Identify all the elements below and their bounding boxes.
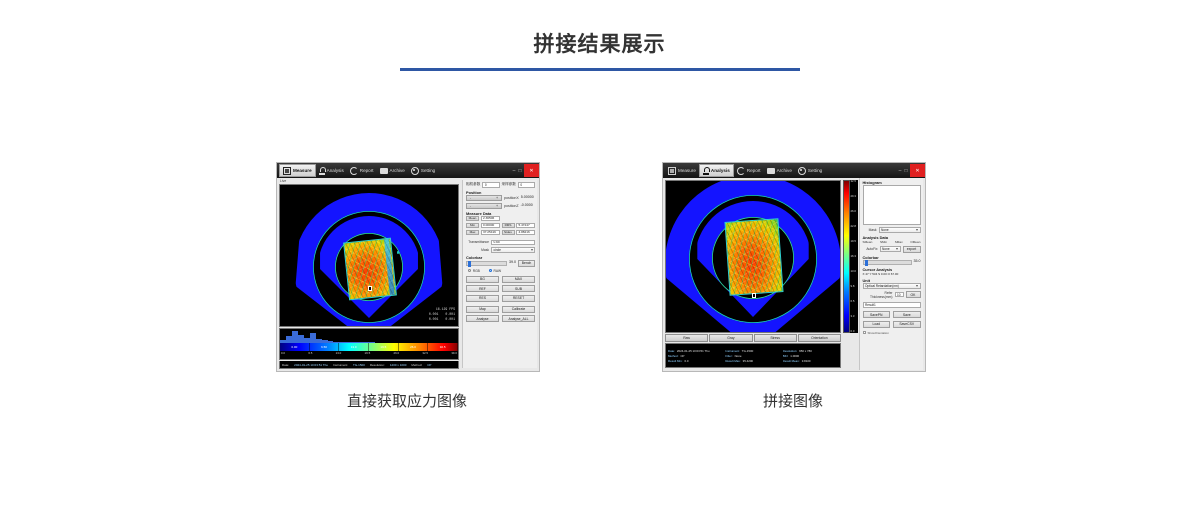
status-value: CP — [427, 363, 431, 367]
camera-param-input[interactable]: 0 — [482, 182, 499, 188]
info-key: Filter: — [725, 354, 732, 358]
axis-tick: 13.0 — [850, 270, 858, 273]
radio-raw-label: RAW — [494, 269, 502, 273]
position-x-minus[interactable]: - — [470, 196, 471, 200]
camera-icon — [668, 167, 676, 175]
show-orientation-label: ShowOrientation — [868, 331, 889, 335]
left-stress-canvas[interactable]: 16.129 FPS 0.001 0.001 0.001 0.001 — [279, 184, 459, 327]
axis-tick: 32.5 — [850, 180, 858, 183]
mode-radio-group: RGB RAW — [468, 269, 535, 273]
rms-value: 5.47247 — [516, 223, 535, 229]
top-fields-row: 相机参数 0 采样参数 0 — [466, 182, 535, 188]
gear-icon — [411, 167, 419, 175]
bg-button[interactable]: BG — [466, 276, 499, 283]
reset-button[interactable]: RESET — [502, 295, 535, 302]
right-colorbar-slider-row: 35.0 — [863, 260, 921, 265]
slider-handle[interactable] — [865, 260, 868, 266]
right-tab-measure-label: Measure — [678, 168, 696, 173]
camera-icon — [283, 167, 291, 175]
left-tab-analysis[interactable]: Analysis — [316, 164, 347, 177]
left-tab-setting[interactable]: Setting — [408, 164, 438, 177]
colorbar-value: 39.0 — [509, 261, 516, 265]
autofix-label: AutoFix — [863, 247, 878, 251]
archive-icon — [380, 168, 388, 174]
colorbar-segment-labels: 0.00 6.50 13.0 19.5 26.0 32.5 — [280, 343, 458, 351]
mask-select[interactable]: None — [879, 227, 921, 233]
calibrate-button[interactable]: Calibrate — [502, 306, 535, 313]
measure-data-col-left: Mean 2.36506 Min 0.00000 Max 37.25416 — [466, 216, 500, 237]
axis-tick: 29.3 — [850, 195, 858, 198]
archive-icon — [767, 168, 775, 174]
maximize-button[interactable]: □ — [903, 165, 909, 176]
thickness-input[interactable]: 10 — [895, 292, 904, 298]
mask-select[interactable]: circle — [491, 247, 535, 253]
measure-row-rms: RMS 5.47247 — [502, 223, 536, 229]
right-tab-archive[interactable]: Archive — [764, 164, 795, 177]
status-value: TG-1500 — [353, 363, 365, 367]
chevron-down-icon — [916, 229, 918, 231]
axis-tick: 16.3 — [850, 255, 858, 258]
axis-tick: 6.5 — [308, 351, 312, 356]
sub-button[interactable]: SUB — [502, 285, 535, 292]
right-tab-report[interactable]: Report — [734, 164, 764, 177]
map-button[interactable]: Map — [466, 306, 499, 313]
analyse-all-button[interactable]: Analyse_ALL — [502, 315, 535, 322]
info-value: TG-1500 — [742, 349, 753, 353]
right-mask-row: Mask None — [863, 227, 921, 233]
tab-orientation[interactable]: Orientation — [798, 334, 841, 342]
right-stress-canvas[interactable] — [665, 180, 841, 333]
status-value: 1200 x 1000 — [390, 363, 407, 367]
analysis-icon — [703, 167, 709, 175]
mask-label: Mask — [863, 228, 877, 232]
info-key: BIN: — [783, 354, 789, 358]
min-value: 0.00000 — [481, 223, 500, 229]
axis-tick: 26.0 — [393, 351, 399, 356]
info-instrument: Instrument:TG-1500 — [725, 349, 780, 353]
position-z-label: positionZ — [504, 204, 519, 208]
colorbar-slider[interactable] — [466, 261, 507, 266]
left-status-bar: Date: 2024-01-25 10:03:51 Thu Instrument… — [279, 361, 459, 369]
info-key: Method: — [668, 354, 678, 358]
info-value: 950 x 780 — [799, 349, 812, 353]
chevron-down-icon — [916, 285, 918, 287]
left-tab-measure-label: Measure — [293, 168, 312, 173]
info-method: Method:CP — [668, 354, 723, 358]
measure-row-min: Min 0.00000 — [466, 223, 500, 229]
radio-raw[interactable]: RAW — [489, 269, 501, 273]
info-key: Result Mean: — [783, 359, 800, 363]
info-result-mean: Result Mean:3.8100 — [783, 359, 838, 363]
axis-tick: 9.8 — [850, 285, 858, 288]
axis-tick: 13.0 — [336, 351, 342, 356]
axis-tick: 22.8 — [850, 225, 858, 228]
view-mode-tabs: Raw Gray Stress Orientation — [665, 334, 841, 342]
right-tab-analysis[interactable]: Analysis — [699, 164, 734, 177]
info-date: Date:2024-01-25 10:03:51 Thu — [668, 349, 723, 353]
bench-button[interactable]: Bench — [518, 260, 535, 267]
position-x-value: 5.00000 — [521, 196, 534, 200]
gear-icon — [798, 167, 806, 175]
stress-map-artwork — [280, 185, 458, 326]
position-x-label: positionX — [504, 196, 519, 200]
status-key: Resolution: — [370, 363, 385, 367]
info-value: None — [735, 354, 742, 358]
left-app-toolbar: Measure Analysis Report Archive Setting … — [277, 163, 539, 178]
colorbar-slider-row: 39.0 Bench — [466, 260, 535, 267]
unit-value: Optical Retardation(nm) — [865, 284, 899, 288]
left-tab-archive[interactable]: Archive — [377, 164, 408, 177]
axis-tick: 32.5 — [422, 351, 428, 356]
close-button[interactable]: ✕ — [910, 164, 925, 177]
status-value: 2024-01-25 10:03:51 Thu — [294, 363, 328, 367]
vertical-colorbar-ticks: 32.5 29.3 26.0 22.8 19.5 16.3 13.0 9.8 6… — [850, 180, 858, 333]
autofix-row: AutoFix None export — [863, 246, 921, 253]
left-tab-setting-label: Setting — [421, 168, 435, 173]
status-key: Date: — [282, 363, 289, 367]
info-value: CP — [680, 354, 684, 358]
measure-row-stdev: Stdev 4.88216 — [502, 230, 536, 236]
left-window-buttons: – □ ✕ — [511, 163, 539, 178]
info-value: 35.4200 — [743, 359, 753, 363]
stitched-stress-artwork — [666, 181, 840, 332]
chevron-down-icon — [896, 248, 898, 250]
axis-tick: 39.0 — [451, 351, 457, 356]
camera-param-label: 相机参数 — [466, 182, 480, 187]
savecsv-button[interactable]: SaveCSV — [893, 321, 921, 328]
screenshot-right: Measure Analysis Report Archive Setting … — [662, 162, 926, 372]
cursor-marker[interactable] — [752, 293, 757, 298]
mean-label: Mean — [466, 216, 479, 222]
thickness-label: Refer Thickness(mm) — [863, 291, 893, 299]
load-button[interactable]: Load — [863, 321, 891, 328]
stdev-value: 4.88216 — [516, 230, 535, 236]
tab-stress[interactable]: Stress — [754, 334, 797, 342]
colorbar-segment: 32.5 — [428, 343, 458, 351]
info-resolution: Resolution:950 x 780 — [783, 349, 838, 353]
report-icon — [737, 167, 745, 175]
info-result-min: Result Min:0.0 — [668, 359, 723, 363]
thickness-row: Refer Thickness(mm) 10 OK — [863, 291, 921, 299]
left-tab-measure[interactable]: Measure — [279, 164, 316, 177]
transmittance-input[interactable]: 0.65 — [491, 240, 535, 246]
canvas-overlay-stats: 16.129 FPS 0.001 0.001 0.001 0.001 — [429, 307, 455, 322]
info-value: 3.8100 — [802, 359, 811, 363]
main-button-grid: Map Calibrate Analyse Analyse_ALL — [466, 306, 535, 323]
matrix-cell: 0.001 — [429, 317, 439, 322]
action-button-grid: BG MAX REF SUB RES RESET — [466, 276, 535, 302]
sample-param-input[interactable]: 0 — [518, 182, 535, 188]
position-x-plus[interactable]: + — [496, 196, 498, 200]
left-canvas-subtitle: Live — [280, 179, 286, 183]
histogram-panel[interactable] — [863, 185, 921, 225]
left-tab-report-label: Report — [360, 168, 374, 173]
info-key: Resolution: — [783, 349, 797, 353]
cursor-marker[interactable] — [368, 286, 373, 291]
mask-value: None — [881, 228, 889, 232]
cursor-analysis-values: X 47 Y 534 S 0.00 O 67.00 — [863, 272, 921, 276]
info-result-max: Result Max:35.4200 — [725, 359, 780, 363]
overlay-matrix-row-2: 0.001 0.001 — [429, 317, 455, 322]
min-label: Min — [466, 223, 479, 229]
mask-row: Mask circle — [466, 247, 535, 253]
position-row-x: - + positionX 5.00000 — [466, 195, 535, 201]
filename-input[interactable]: Result1 — [863, 302, 921, 309]
radio-icon — [489, 269, 492, 272]
savepn-button[interactable]: SavePN — [863, 311, 891, 318]
status-key: Instrument: — [333, 363, 348, 367]
measure-row-max: Max 37.25416 — [466, 230, 500, 236]
axis-tick: 0.0 — [281, 351, 285, 356]
status-key: Method: — [411, 363, 422, 367]
measure-row-mean: Mean 2.36506 — [466, 216, 500, 222]
right-tab-setting[interactable]: Setting — [795, 164, 825, 177]
info-filter: Filter:None — [725, 354, 780, 358]
analysis-icon — [319, 167, 325, 175]
left-tab-report[interactable]: Report — [347, 164, 377, 177]
info-key: Instrument: — [725, 349, 739, 353]
right-window-buttons: – □ ✕ — [897, 163, 925, 178]
analysis-data-labels: SMean SMin SMax OMean — [863, 240, 921, 244]
radio-rgb[interactable]: RGB — [468, 269, 480, 273]
maximize-button[interactable]: □ — [517, 165, 523, 176]
info-key: Result Max: — [725, 359, 740, 363]
max-button[interactable]: MAX — [502, 276, 535, 283]
sample-param-label: 采样参数 — [502, 182, 516, 187]
artifact-speck — [397, 251, 399, 254]
right-tab-setting-label: Setting — [808, 168, 822, 173]
rms-label: RMS — [502, 223, 515, 229]
left-control-panel: 相机参数 0 采样参数 0 Position - + positionX 5.0… — [462, 180, 537, 368]
position-z-stepper[interactable]: - + — [466, 203, 502, 209]
tab-gray[interactable]: Gray — [709, 334, 752, 342]
radio-rgb-label: RGB — [473, 269, 480, 273]
smax-label: SMax — [895, 240, 903, 244]
export-button[interactable]: export — [903, 246, 921, 253]
colorbar-segment: 26.0 — [399, 343, 429, 351]
page-title: 拼接结果展示 — [0, 28, 1199, 58]
max-value: 37.25416 — [481, 230, 500, 236]
position-z-value: -0.0000 — [521, 204, 533, 208]
colorbar-segment: 19.5 — [369, 343, 399, 351]
transmittance-label: Transmittance — [466, 240, 489, 244]
colorbar-slider[interactable] — [863, 260, 912, 265]
save-button-grid: SavePN Save Load SaveCSV — [863, 311, 921, 328]
transmittance-row: Transmittance 0.65 — [466, 240, 535, 246]
radio-icon — [468, 269, 471, 272]
chevron-down-icon — [531, 249, 533, 251]
axis-tick: 3.3 — [850, 315, 858, 318]
ref-button[interactable]: REF — [466, 285, 499, 292]
axis-tick: 6.5 — [850, 300, 858, 303]
autofix-value: None — [882, 247, 890, 251]
caption-left: 直接获取应力图像 — [276, 390, 538, 411]
info-value: 0.0 — [684, 359, 688, 363]
smean-label: SMean — [863, 240, 873, 244]
stdev-label: Stdev — [502, 230, 515, 236]
right-tab-analysis-label: Analysis — [711, 168, 730, 173]
info-value: 1.0000 — [790, 354, 799, 358]
right-info-grid: Date:2024-01-25 10:03:51 Thu Instrument:… — [665, 343, 841, 368]
colorbar-segment: 13.0 — [339, 343, 369, 351]
colorbar-axis-ticks: 0.0 6.5 13.0 19.5 26.0 32.5 39.0 — [280, 351, 458, 356]
checkbox-icon — [863, 331, 866, 334]
position-z-minus[interactable]: - — [470, 204, 471, 208]
screenshot-left: Measure Analysis Report Archive Setting … — [276, 162, 540, 372]
info-bin: BIN:1.0000 — [783, 354, 838, 358]
omean-label: OMean — [910, 240, 920, 244]
left-tab-analysis-label: Analysis — [327, 168, 344, 173]
axis-tick: 19.5 — [365, 351, 371, 356]
mean-value: 2.36506 — [481, 216, 500, 222]
axis-tick: 26.0 — [850, 210, 858, 213]
caption-right: 拼接图像 — [662, 390, 924, 411]
matrix-cell: 0.001 — [445, 317, 455, 322]
left-histogram-colorbar: 0.00 6.50 13.0 19.5 26.0 32.5 0.0 6.5 13… — [279, 328, 459, 360]
unit-select[interactable]: Optical Retardation(nm) — [863, 283, 921, 289]
right-tab-archive-label: Archive — [777, 168, 792, 173]
measure-data-col-right: RMS 5.47247 Stdev 4.88216 — [502, 216, 536, 237]
vertical-colorbar — [843, 180, 850, 333]
colorbar-segment: 6.50 — [310, 343, 340, 351]
mask-label: Mask — [466, 248, 489, 252]
right-control-panel: Histogram Mask None Analysis Data SMean … — [859, 178, 923, 370]
smin-label: SMin — [880, 240, 887, 244]
colorbar-value: 35.0 — [914, 260, 921, 264]
ok-button[interactable]: OK — [906, 291, 921, 298]
position-z-plus[interactable]: + — [496, 204, 498, 208]
sample-stress-pattern — [343, 238, 397, 301]
tab-raw[interactable]: Raw — [665, 334, 708, 342]
axis-tick: 0.0 — [850, 330, 858, 333]
mask-value: circle — [494, 248, 501, 252]
show-orientation-checkbox[interactable]: ShowOrientation — [863, 331, 921, 335]
right-tab-measure[interactable]: Measure — [665, 164, 699, 177]
right-tab-report-label: Report — [747, 168, 761, 173]
title-underline — [400, 68, 800, 71]
left-tab-archive-label: Archive — [390, 168, 405, 173]
autofix-select[interactable]: None — [880, 246, 901, 252]
info-value: 2024-01-25 10:03:51 Thu — [677, 349, 710, 353]
res-button[interactable]: RES — [466, 295, 499, 302]
max-label: Max — [466, 230, 479, 236]
measure-data-grid: Mean 2.36506 Min 0.00000 Max 37.25416 RM… — [466, 216, 535, 237]
colorbar-segment: 0.00 — [280, 343, 310, 351]
report-icon — [350, 167, 358, 175]
position-row-z: - + positionZ -0.0000 — [466, 203, 535, 209]
position-x-stepper[interactable]: - + — [466, 195, 502, 201]
histogram-plot — [280, 329, 458, 343]
axis-tick: 19.5 — [850, 240, 858, 243]
save-button[interactable]: Save — [893, 311, 921, 318]
right-app-toolbar: Measure Analysis Report Archive Setting … — [663, 163, 925, 178]
info-key: Date: — [668, 349, 675, 353]
slider-handle[interactable] — [468, 261, 471, 267]
analyse-button[interactable]: Analyse — [466, 315, 499, 322]
close-button[interactable]: ✕ — [524, 164, 539, 177]
info-key: Result Min: — [668, 359, 682, 363]
sample-stress-pattern — [724, 218, 783, 296]
